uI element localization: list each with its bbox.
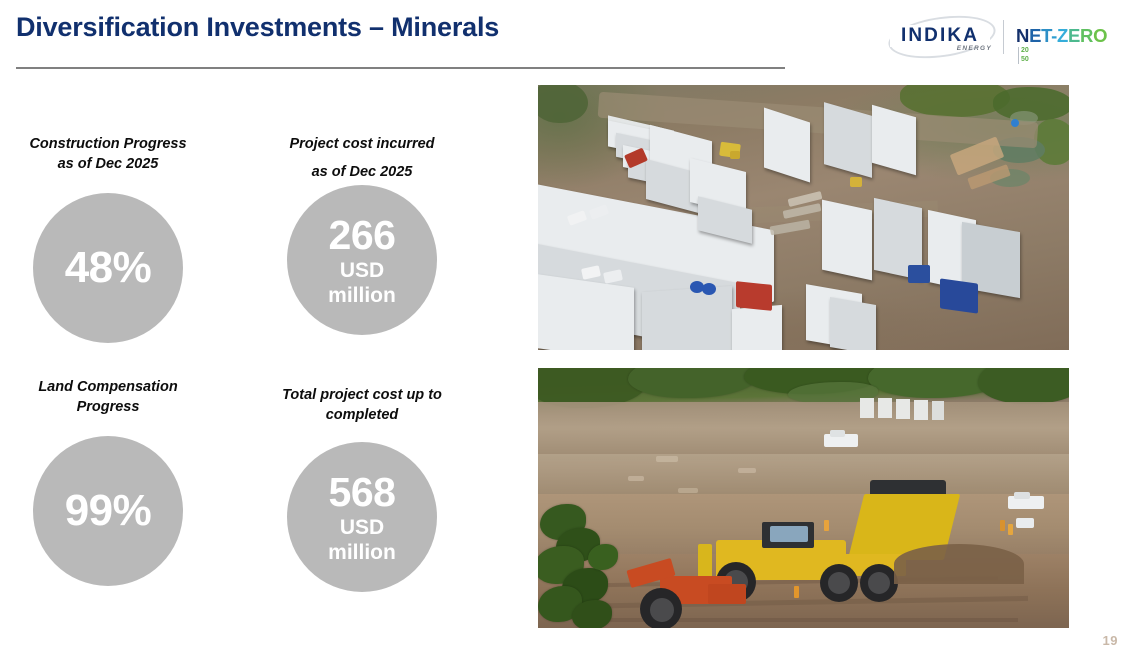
stat-value-project-cost-incurred: 266	[329, 212, 396, 258]
stat-label-line1: Project cost incurred	[262, 134, 462, 154]
stat-label-line1: Construction Progress	[8, 134, 208, 154]
worker	[1008, 524, 1013, 535]
red-pipe-stack	[736, 281, 772, 311]
earth-pile	[894, 544, 1024, 584]
netzero-char-t: T	[1041, 25, 1051, 46]
netzero-char-o: O	[1093, 25, 1107, 46]
white-car-cab	[1014, 492, 1030, 499]
small-white-object	[1016, 518, 1034, 528]
netzero-year-bottom: 50	[1021, 56, 1029, 63]
stat-label-line2: as of Dec 2025	[8, 154, 208, 174]
netzero-char-e2: E	[1068, 25, 1080, 46]
stat-unit-line2: million	[328, 283, 396, 308]
stat-circle-construction-progress: 48%	[33, 193, 183, 343]
stat-value-land-compensation-progress: 99%	[65, 489, 152, 533]
stat-circle-project-cost-incurred: 266 USD million	[287, 185, 437, 335]
photo-mining-haul-road	[538, 368, 1069, 628]
building-roof	[538, 274, 634, 350]
stat-label-line1: Total project cost up to	[258, 385, 466, 405]
truck-wheel-hub	[828, 572, 850, 594]
blue-drum	[702, 283, 716, 295]
stat-label-project-cost-incurred: Project cost incurred as of Dec 2025	[262, 134, 462, 182]
stat-label-line2: Progress	[8, 397, 208, 417]
building-roof	[822, 200, 872, 281]
white-pickup-cab	[830, 430, 845, 437]
netzero-year-top: 20	[1021, 47, 1029, 54]
netzero-char-e: E	[1029, 25, 1041, 46]
yellow-machinery	[850, 177, 862, 187]
survey-board	[878, 398, 892, 418]
stat-unit-line2: million	[328, 540, 396, 565]
page-title: Diversification Investments – Minerals	[16, 12, 499, 43]
stat-label-line2: as of Dec 2025	[262, 162, 462, 182]
indika-wordmark: INDIKA	[890, 25, 990, 47]
excavator-wheel-hub	[650, 598, 674, 622]
yellow-machinery	[730, 151, 740, 159]
netzero-years: 2050	[1018, 47, 1029, 64]
building-roof	[872, 105, 916, 176]
worker	[1000, 520, 1005, 531]
page-number: 19	[1103, 633, 1118, 648]
stat-value-construction-progress: 48%	[65, 246, 152, 290]
netzero-logo: NET-ZERO2050	[1016, 25, 1114, 49]
slope-bench	[538, 402, 1069, 460]
survey-board	[914, 400, 928, 420]
stat-circle-land-compensation-progress: 99%	[33, 436, 183, 586]
stat-label-construction-progress: Construction Progress as of Dec 2025	[8, 134, 208, 174]
blue-marker	[1011, 119, 1019, 127]
blue-tarp	[908, 265, 930, 283]
stat-label-line1: Land Compensation	[8, 377, 208, 397]
building-roof	[830, 297, 876, 350]
foreground-bush	[572, 600, 612, 628]
survey-board	[932, 401, 944, 420]
worker	[794, 586, 799, 598]
stat-label-line2: completed	[258, 405, 466, 425]
truck-front	[698, 544, 712, 578]
title-divider	[16, 67, 785, 69]
stat-label-land-compensation-progress: Land Compensation Progress	[8, 377, 208, 417]
stat-label-total-project-cost: Total project cost up to completed	[258, 385, 466, 425]
debris	[628, 476, 644, 481]
truck-wheel-hub	[868, 572, 890, 594]
debris	[678, 488, 698, 493]
slope-bench	[538, 454, 1069, 494]
photo-aerial-construction-camp	[538, 85, 1069, 350]
stat-unit-line1: USD	[340, 258, 384, 283]
survey-board	[860, 398, 874, 418]
logo-divider	[1003, 20, 1004, 54]
stat-circle-total-project-cost: 568 USD million	[287, 442, 437, 592]
blue-tarp	[940, 278, 978, 313]
stat-unit-line1: USD	[340, 515, 384, 540]
slide: Diversification Investments – Minerals I…	[0, 0, 1126, 651]
excavator-rear	[708, 584, 746, 604]
logo-block: INDIKA ENERGY NET-ZERO2050	[886, 14, 1114, 58]
debris	[656, 456, 678, 462]
survey-board	[896, 399, 910, 419]
netzero-char-n: N	[1016, 25, 1029, 46]
debris	[738, 468, 756, 473]
stat-value-total-project-cost: 568	[329, 469, 396, 515]
indika-logo: INDIKA ENERGY	[886, 16, 994, 56]
building-roof	[642, 286, 732, 350]
netzero-char-r: R	[1080, 25, 1093, 46]
netzero-char-z: Z	[1057, 25, 1068, 46]
dump-truck-window	[770, 526, 808, 542]
worker	[824, 520, 829, 531]
indika-tagline: ENERGY	[926, 45, 992, 52]
building-roof	[732, 305, 782, 350]
